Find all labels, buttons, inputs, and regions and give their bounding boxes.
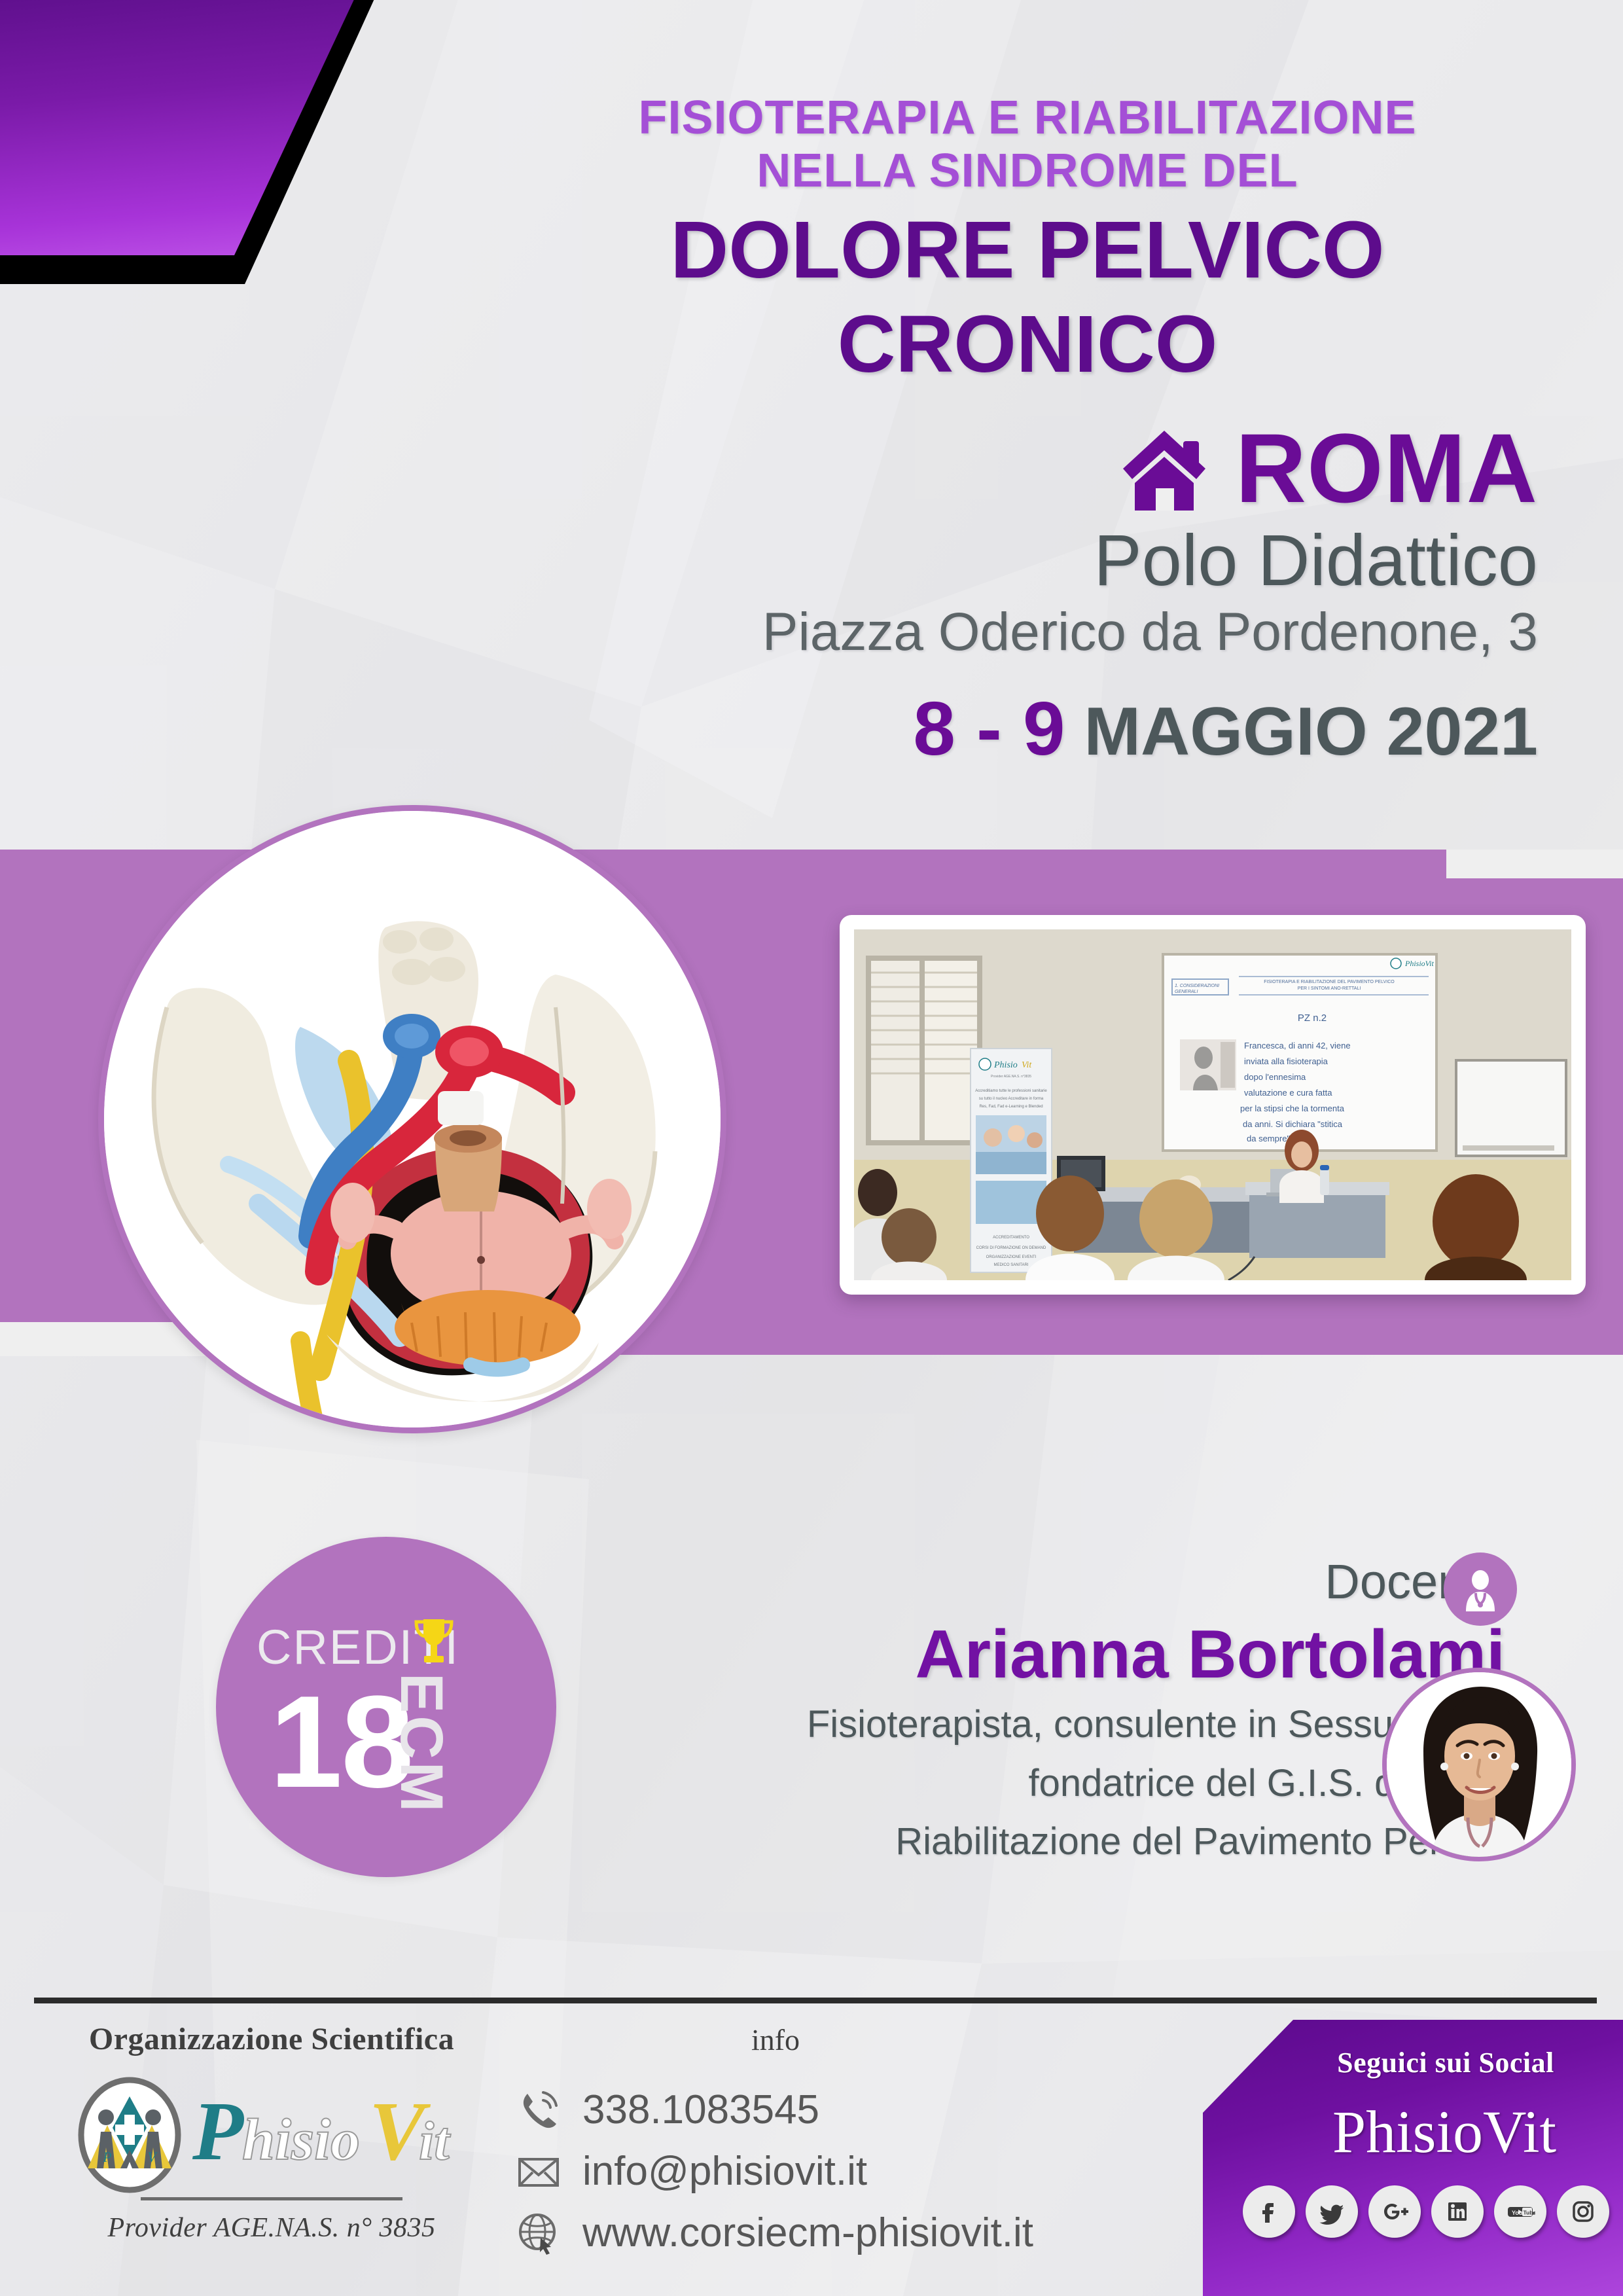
envelope-icon — [517, 2150, 560, 2193]
svg-text:Phisio: Phisio — [993, 1060, 1018, 1070]
svg-text:dopo l'ennesima: dopo l'ennesima — [1244, 1072, 1306, 1082]
info-phone-value: 338.1083545 — [582, 2090, 819, 2130]
credits-unit: ECM — [391, 1673, 452, 1814]
trophy-icon — [412, 1615, 455, 1666]
venue-address: Piazza Oderico da Pordenone, 3 — [576, 601, 1538, 663]
headline-block: FISIOTERAPIA E RIABILITAZIONE NELLA SIND… — [497, 92, 1558, 387]
info-row-email[interactable]: info@phisiovit.it — [517, 2150, 1060, 2193]
doctor-icon — [1444, 1552, 1517, 1626]
svg-text:Vit: Vit — [1022, 1060, 1032, 1070]
linkedin-icon[interactable] — [1431, 2185, 1484, 2238]
city-name: ROMA — [1236, 419, 1538, 517]
info-email-value: info@phisiovit.it — [582, 2151, 867, 2192]
event-date: 8 - 9 MAGGIO 2021 — [576, 691, 1538, 766]
facebook-icon[interactable] — [1243, 2185, 1295, 2238]
svg-text:CORSI DI FORMAZIONE ON DEMAND: CORSI DI FORMAZIONE ON DEMAND — [976, 1246, 1046, 1250]
svg-text:da anni. Si dichiara "stitica: da anni. Si dichiara "stitica — [1243, 1119, 1343, 1129]
twitter-icon[interactable] — [1306, 2185, 1358, 2238]
svg-text:per la stipsi che la tormenta: per la stipsi che la tormenta — [1240, 1103, 1345, 1113]
credits-badge: CREDITI 18 ECM — [216, 1537, 556, 1877]
youtube-icon[interactable]: You Tube Tube — [1494, 2185, 1546, 2238]
phisiovit-logo: P V P hisio V it — [46, 2077, 497, 2193]
headline-subtitle-line2: NELLA SINDROME DEL — [497, 145, 1558, 198]
svg-text:FISIOTERAPIA E RIABILITAZIONE: FISIOTERAPIA E RIABILITAZIONE DEL PAVIME… — [1264, 980, 1395, 984]
svg-text:PZ n.2: PZ n.2 — [1298, 1013, 1327, 1024]
event-date-month-year: MAGGIO 2021 — [1084, 694, 1538, 770]
svg-text:it: it — [419, 2111, 451, 2172]
svg-text:ORGANIZZAZIONE EVENTI: ORGANIZZAZIONE EVENTI — [986, 1255, 1037, 1259]
phisiovit-emblem-icon: P V — [77, 2077, 182, 2193]
svg-text:Tube: Tube — [1524, 2210, 1536, 2216]
event-date-days: 8 - 9 — [913, 686, 1065, 771]
instagram-icon[interactable] — [1557, 2185, 1609, 2238]
info-block: info 338.1083545 — [517, 2022, 1060, 2273]
info-row-website[interactable]: www.corsiecm-phisiovit.it — [517, 2212, 1060, 2255]
social-icon-row: You Tube Tube — [1203, 2185, 1623, 2238]
location-block: ROMA Polo Didattico Piazza Oderico da Po… — [576, 419, 1551, 766]
svg-text:ACCREDITAMENTO: ACCREDITAMENTO — [993, 1236, 1029, 1240]
footer-divider — [34, 1998, 1597, 2003]
organization-title: Organizzazione Scientifica — [46, 2021, 497, 2057]
venue-name: Polo Didattico — [576, 521, 1538, 600]
phisiovit-wordmark: P hisio V it — [191, 2086, 466, 2184]
svg-text:inviata alla fisioterapia: inviata alla fisioterapia — [1244, 1056, 1329, 1066]
city-row: ROMA — [576, 419, 1538, 517]
headline-title-line2: CRONICO — [497, 303, 1558, 387]
svg-text:1. CONSIDERAZIONI: 1. CONSIDERAZIONI — [1175, 984, 1219, 988]
purple-band-notch-right — [1446, 850, 1623, 878]
info-row-phone[interactable]: 338.1083545 — [517, 2089, 1060, 2132]
svg-text:PER I SINTOMI ANO-RETTALI: PER I SINTOMI ANO-RETTALI — [1298, 986, 1361, 991]
info-title: info — [491, 2022, 1060, 2057]
pelvis-model-image — [98, 805, 726, 1433]
speaker-role-label: Docente — [707, 1558, 1505, 1606]
organization-provider: Provider AGE.NA.S. n° 3835 — [46, 2212, 497, 2244]
social-panel: Seguici sui Social PhisioVit — [1203, 2020, 1623, 2296]
info-rows: 338.1083545 info@phisiovit.it — [517, 2089, 1060, 2255]
svg-text:P: P — [192, 2086, 244, 2178]
phone-icon — [517, 2089, 560, 2132]
speaker-bio-line3: Riabilitazione del Pavimento Pelvico — [707, 1817, 1505, 1866]
svg-text:da sempre".: da sempre". — [1247, 1134, 1293, 1143]
svg-text:You: You — [1512, 2210, 1522, 2216]
organization-rule — [141, 2197, 402, 2200]
svg-text:Provider AGE.NA.S. n°3835: Provider AGE.NA.S. n°3835 — [991, 1075, 1031, 1079]
svg-text:MEDICO SANITARI: MEDICO SANITARI — [994, 1263, 1029, 1267]
classroom-photo-card: 1. CONSIDERAZIONI GENERALI FISIOTERAPIA … — [840, 915, 1586, 1295]
speaker-name: Arianna Bortolami — [707, 1619, 1505, 1691]
social-brand: PhisioVit — [1203, 2102, 1623, 2162]
speaker-portrait — [1382, 1668, 1576, 1861]
svg-text:P: P — [102, 2149, 111, 2165]
svg-text:valutazione e cura fatta: valutazione e cura fatta — [1244, 1088, 1332, 1098]
social-title: Seguici sui Social — [1203, 2046, 1623, 2079]
organization-block: Organizzazione Scientifica — [46, 2021, 497, 2244]
speaker-block: Docente Arianna Bortolami Fisioterapista… — [707, 1558, 1505, 1866]
svg-text:Francesca, di anni 42, viene: Francesca, di anni 42, viene — [1244, 1041, 1351, 1050]
classroom-photo: 1. CONSIDERAZIONI GENERALI FISIOTERAPIA … — [854, 929, 1571, 1280]
headline-title-line1: DOLORE PELVICO — [497, 209, 1558, 293]
globe-icon — [517, 2212, 560, 2255]
info-website-value: www.corsiecm-phisiovit.it — [582, 2213, 1033, 2253]
svg-text:PhisioVit: PhisioVit — [1404, 959, 1434, 968]
svg-text:hisio: hisio — [242, 2108, 360, 2172]
svg-text:Res, Fad, Fad e-Learning e Ble: Res, Fad, Fad e-Learning e Blended — [979, 1105, 1043, 1109]
headline-subtitle-line1: FISIOTERAPIA E RIABILITAZIONE — [497, 92, 1558, 145]
svg-text:su tutto il nucleo Accreditare: su tutto il nucleo Accreditare in forma — [979, 1097, 1044, 1101]
svg-text:Accreditiamo tutte le professi: Accreditiamo tutte le professioni sanita… — [975, 1089, 1047, 1093]
poster-canvas: FISIOTERAPIA E RIABILITAZIONE NELLA SIND… — [0, 0, 1623, 2296]
svg-text:GENERALI: GENERALI — [1175, 990, 1198, 994]
googleplus-icon[interactable] — [1368, 2185, 1421, 2238]
home-icon — [1115, 425, 1213, 511]
